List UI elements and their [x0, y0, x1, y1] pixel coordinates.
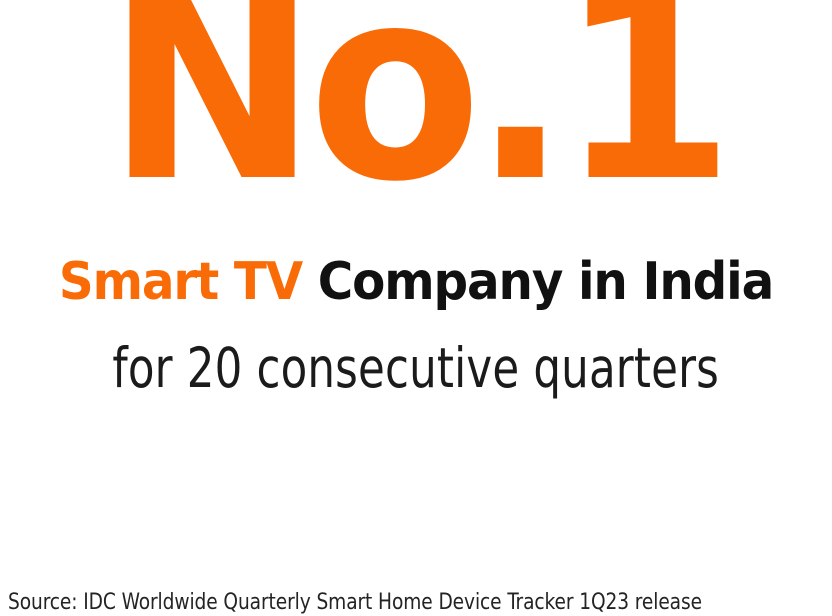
subheadline: Smart TV Company in India [0, 251, 832, 313]
source-text: Source: IDC Worldwide Quarterly Smart Ho… [8, 588, 702, 616]
source-footnote: Source: IDC Worldwide Quarterly Smart Ho… [8, 588, 824, 616]
tagline-text: for 20 consecutive quarters [113, 335, 720, 401]
subheadline-main-text: Company in India [318, 252, 773, 312]
subheadline-accent-text: Smart TV [59, 252, 302, 312]
headline-no1: No.1 [0, 0, 832, 224]
subheadline-inner: Smart TV Company in India [59, 251, 773, 313]
subheadline-space [302, 252, 318, 312]
headline-text: No.1 [107, 0, 726, 216]
tagline: for 20 consecutive quarters [0, 335, 832, 401]
promo-poster: No.1 Smart TV Company in India for 20 co… [0, 0, 832, 616]
